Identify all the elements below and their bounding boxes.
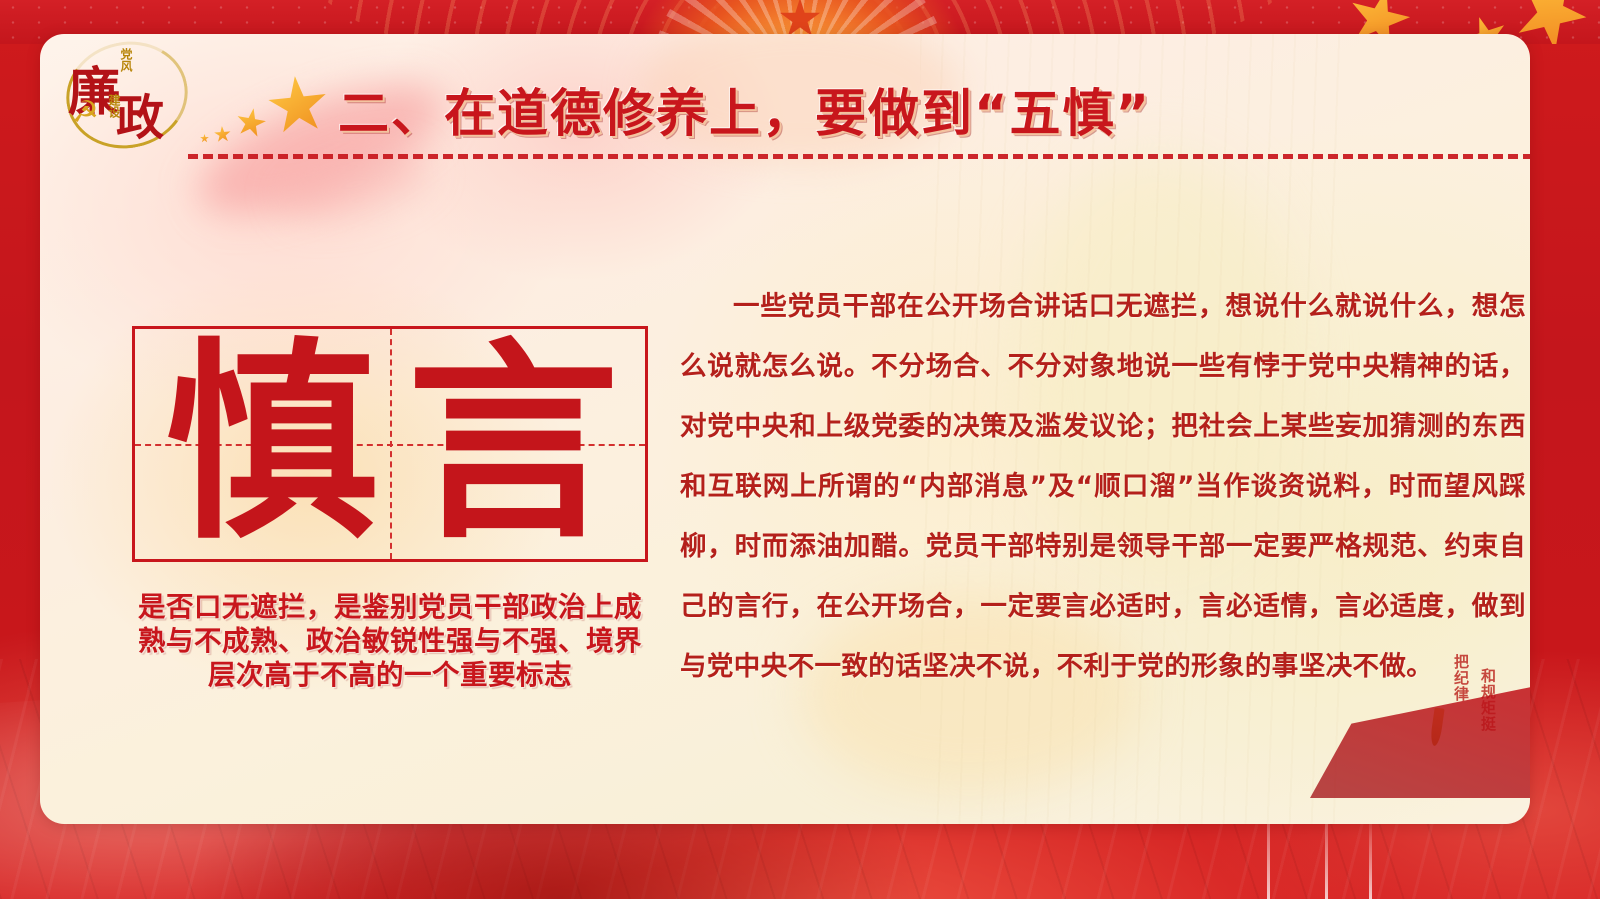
keyword-grid-box: 慎 言 [132,326,648,562]
logo-char-zheng: 政 [116,78,164,148]
keyword-char-shen: 慎 [165,338,377,550]
lianzheng-logo: 廉 政 党风 建设 ☭ [58,36,198,148]
keyword-char-yan: 言 [407,338,619,550]
star-icon [200,134,209,143]
slide-root: 廉 政 党风 建设 ☭ 二、在道德修养上，要做到“五慎” 慎 言 是否口无遮拦，… [0,0,1600,899]
watermark-column-1: 把纪律 [1453,654,1469,702]
content-panel: 廉 政 党风 建设 ☭ 二、在道德修养上，要做到“五慎” 慎 言 是否口无遮拦，… [40,34,1530,824]
dashed-divider [188,154,1530,159]
page-title: 二、在道德修养上，要做到“五慎” [338,72,1151,146]
hammer-sickle-icon: ☭ [72,98,106,132]
logo-subtext-bottom: 建设 [108,94,120,118]
keyword-caption: 是否口无遮拦，是鉴别党员干部政治上成熟与不成熟、政治敏锐性强与不强、境界层次高于… [136,590,644,692]
silk-crease-line [1369,813,1372,899]
logo-subtext-top: 党风 [120,48,132,72]
body-paragraph: 一些党员干部在公开场合讲话口无遮拦，想说什么就说什么，想怎么说就怎么说。不分场合… [680,277,1526,697]
star-icon [213,125,231,143]
